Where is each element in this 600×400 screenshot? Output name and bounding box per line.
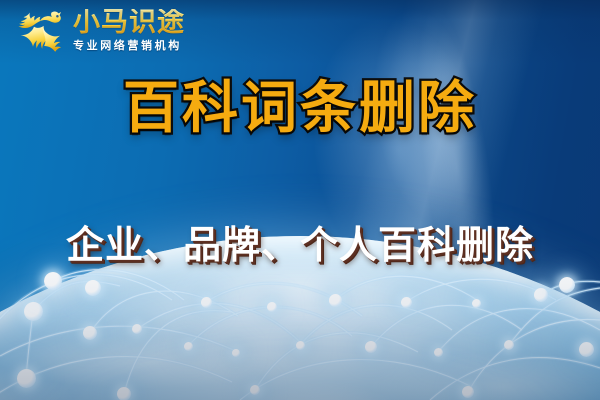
brand-name: 小马识途	[73, 9, 185, 36]
headline-subtitle-container: 企业、品牌、个人百科删除	[0, 214, 600, 269]
brand-tagline: 专业网络营销机构	[73, 40, 185, 51]
headline-title-container: 百科词条删除	[0, 80, 600, 139]
promo-banner: 小马识途 专业网络营销机构 百科词条删除 企业、品牌、个人百科删除	[0, 0, 600, 400]
galloping-horse-icon	[14, 6, 70, 54]
headline-subtitle: 企业、品牌、个人百科删除	[66, 214, 534, 269]
brand-logo[interactable]: 小马识途 专业网络营销机构	[14, 6, 185, 54]
top-edge-shading	[0, 0, 600, 400]
headline-title: 百科词条删除	[123, 80, 477, 139]
